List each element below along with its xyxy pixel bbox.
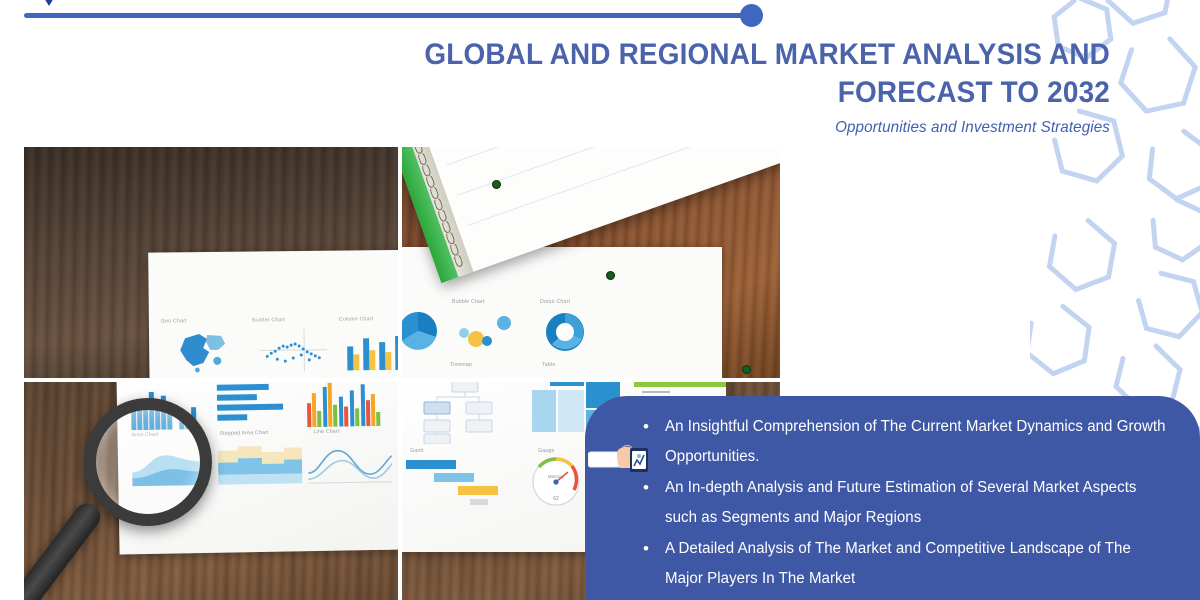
rule-end-dot	[740, 4, 763, 27]
page-title-line-1: GLOBAL AND REGIONAL MARKET ANALYSIS AND	[357, 36, 1110, 74]
chevron-check-icon	[36, 0, 62, 12]
page-title-line-2: FORECAST TO 2032	[357, 74, 1110, 112]
header-rule	[24, 13, 744, 18]
list-item: • A Detailed Analysis of The Market and …	[643, 534, 1178, 594]
title-block: GLOBAL AND REGIONAL MARKET ANALYSIS AND …	[300, 36, 1110, 137]
highlight-text-1: An Insightful Comprehension of The Curre…	[665, 412, 1170, 472]
collage-cell-bottom-left: Area Chart Stepped Area Chart Line Chart	[24, 382, 398, 600]
highlight-text-2: An In-depth Analysis and Future Estimati…	[665, 473, 1170, 533]
highlights-list: • An Insightful Comprehension of The Cur…	[643, 412, 1178, 594]
bullet-dot-icon: •	[643, 534, 665, 564]
poster-canvas: GLOBAL AND REGIONAL MARKET ANALYSIS AND …	[0, 0, 1200, 600]
list-item: • An In-depth Analysis and Future Estima…	[643, 473, 1178, 533]
hand-holding-chart-icon	[588, 440, 658, 482]
collage-cell-top-right: Bubble Chart Donut Chart Treemap Table	[402, 147, 780, 378]
page-subtitle: Opportunities and Investment Strategies	[341, 119, 1111, 137]
bullet-dot-icon: •	[643, 412, 665, 442]
svg-text:Memory: Memory	[548, 474, 565, 479]
list-item: • An Insightful Comprehension of The Cur…	[643, 412, 1178, 472]
svg-text:62: 62	[553, 496, 559, 502]
collage-cell-top-left: Geo Chart Scatter Chart Column Chart Pie…	[24, 147, 398, 378]
highlights-panel: • An Insightful Comprehension of The Cur…	[585, 396, 1200, 600]
highlight-text-3: A Detailed Analysis of The Market and Co…	[665, 534, 1170, 594]
